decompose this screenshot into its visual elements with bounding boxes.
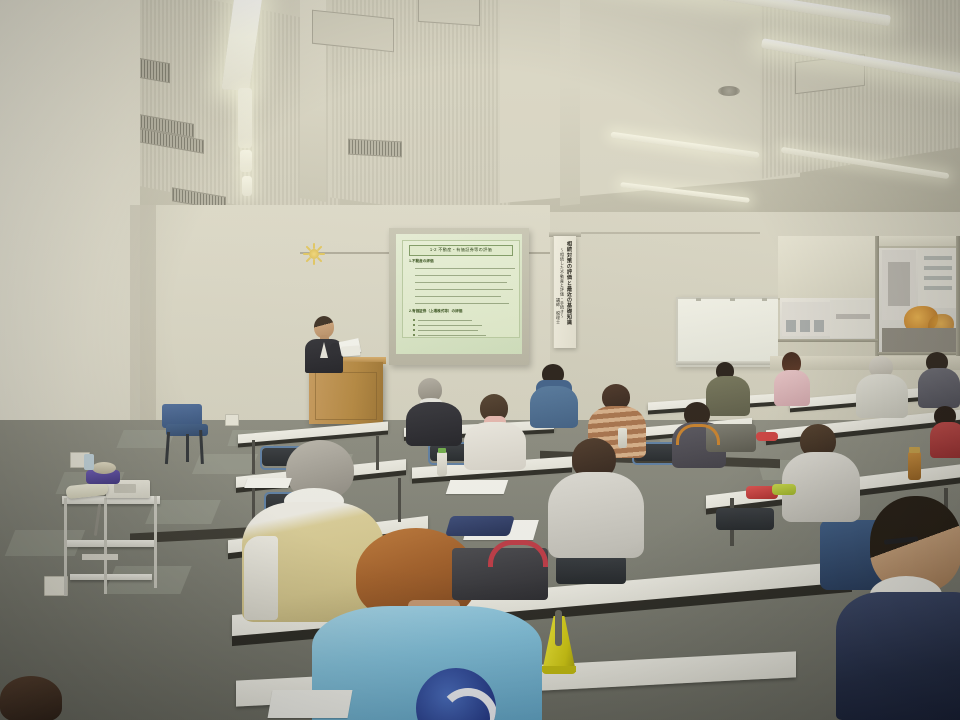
tote-bag-handle: [676, 424, 720, 445]
attendee-left-edge: [0, 676, 70, 720]
ceiling: [0, 0, 960, 230]
attendee-pink-top-rear: [772, 352, 812, 404]
window-wall: [778, 236, 960, 368]
yellow-cone-case: [542, 610, 576, 672]
tea-bottle-cap: [909, 447, 920, 453]
ceiling-light-1-housing: [238, 88, 252, 148]
attendee-blue-hoodie: [528, 364, 580, 426]
air-vent-5: [348, 139, 402, 158]
green-pencil-case: [772, 484, 796, 495]
presenter: [300, 316, 358, 374]
chair-d2[interactable]: [556, 556, 626, 584]
ceiling-light-1-lowest: [242, 176, 252, 196]
attendee-red-top: [930, 406, 960, 454]
attendee-light-gray-front: [548, 438, 644, 556]
slide-title-text: 1-2 不動産・有価証券等の評価: [410, 246, 512, 254]
attendee-rear-window: [918, 352, 960, 404]
handout-4: [244, 478, 292, 488]
cart-low-shelf: [70, 574, 152, 580]
slide-section-2-heading: 2.有価証券（上場株式等）の評価: [409, 309, 462, 314]
water-bottle-1-cap: [438, 448, 446, 453]
banner-main-text: 相続対策の評価と最近の基礎知識: [565, 241, 572, 343]
seminar-room-photo: 1-2 不動産・有価証券等の評価 1.不動産の評価 2.有価証券（上場株式等）の…: [0, 0, 960, 720]
navy-suit-body: [836, 592, 960, 720]
projected-slide: 1-2 不動産・有価証券等の評価 1.不動産の評価 2.有価証券（上場株式等）の…: [402, 240, 520, 338]
handout-1: [446, 480, 509, 494]
navy-folder: [445, 516, 515, 536]
window-blind-right: [878, 236, 960, 248]
whiteboard: [676, 297, 784, 367]
attendee-white-hair: [856, 356, 908, 414]
chair-c3[interactable]: [716, 508, 774, 530]
tea-bottle-amber: [908, 452, 921, 480]
water-bottle-2: [618, 428, 627, 448]
slide-title-box: 1-2 不動産・有価証券等の評価: [409, 245, 513, 256]
sun-flower-ornament: [303, 243, 325, 265]
attendee-gray-hair-suit: [406, 378, 462, 444]
red-pouch-rear: [756, 432, 778, 441]
banner-presenter-text: 講師 税理士: [555, 298, 562, 342]
wall-outlet-rear: [225, 414, 239, 426]
window-mullion: [875, 236, 879, 356]
equipment-side-cart: [62, 478, 160, 596]
water-bottle-1: [437, 452, 447, 476]
cart-mid-shelf: [66, 540, 156, 547]
smoke-detector: [718, 86, 740, 96]
slide-section-1-heading: 1.不動産の評価: [409, 259, 434, 264]
window-blind-left: [778, 236, 878, 300]
seminar-banner: 相続対策の評価と最近の基礎知識 ～相続した不動産と評価・手続き～ 講師 税理士: [553, 236, 576, 348]
ceiling-light-1-lower: [240, 150, 252, 172]
attendee-white-pink-top: [464, 394, 526, 468]
ceiling-access-panel-2: [418, 0, 480, 26]
attendee-navy-suit-foreground: [836, 496, 960, 720]
wall-rail-back: [560, 232, 760, 234]
handout-3: [268, 690, 353, 718]
podium-front-panel: [315, 372, 377, 420]
